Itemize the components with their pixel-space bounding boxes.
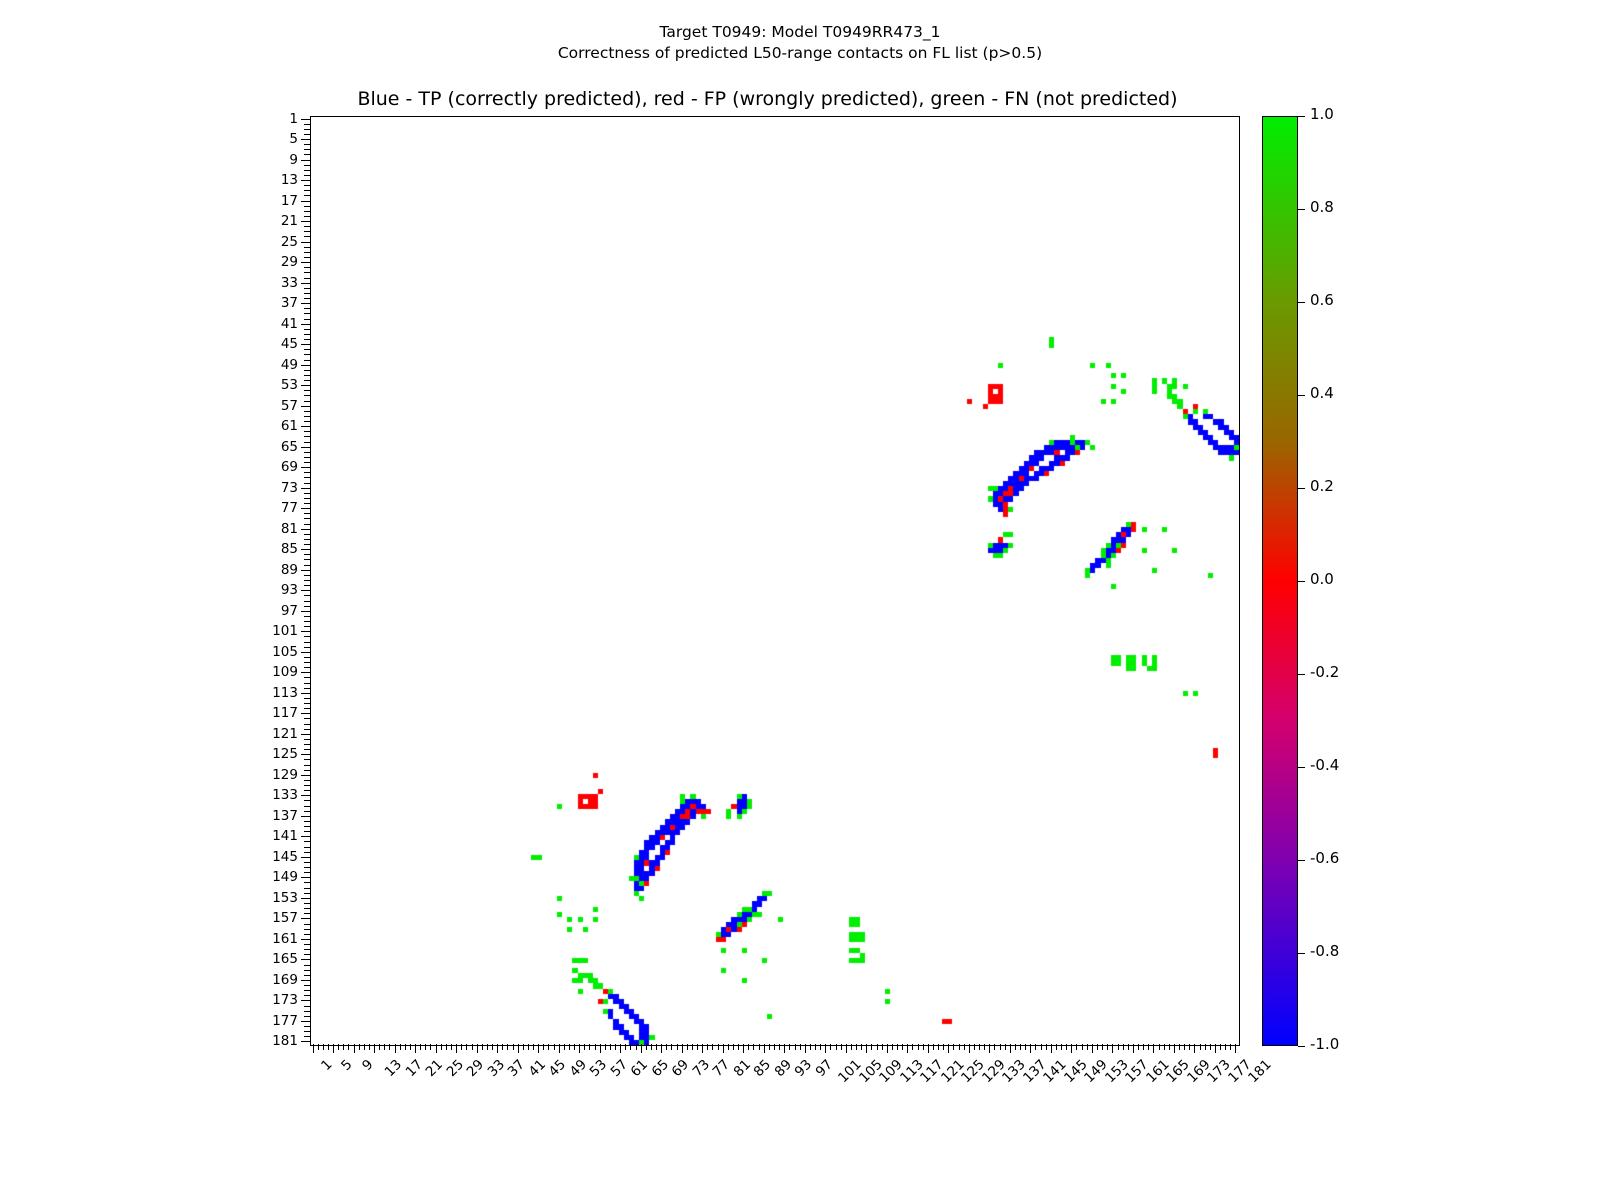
- y-tick-85: [301, 549, 310, 550]
- y-tick-125: [301, 754, 310, 755]
- x-tick-label-37: 37: [506, 1058, 527, 1079]
- y-tick-label-77: 77: [252, 502, 298, 514]
- colorbar-tick-1: [1298, 209, 1305, 210]
- y-tick-33: [301, 283, 310, 284]
- y-tick-5: [301, 139, 310, 140]
- y-tick-69: [301, 467, 310, 468]
- colorbar: [1262, 116, 1298, 1046]
- y-tick-label-65: 65: [252, 441, 298, 453]
- y-tick-label-1: 1: [252, 113, 298, 125]
- x-tick-label-125: 125: [960, 1058, 987, 1085]
- y-tick-label-73: 73: [252, 482, 298, 494]
- y-tick-169: [301, 980, 310, 981]
- x-tick-label-17: 17: [404, 1058, 425, 1079]
- x-tick-label-81: 81: [732, 1058, 753, 1079]
- y-tick-label-85: 85: [252, 543, 298, 555]
- y-tick-177: [301, 1021, 310, 1022]
- colorbar-tick-10: [1298, 1046, 1305, 1047]
- x-tick-label-13: 13: [383, 1058, 404, 1079]
- y-tick-label-157: 157: [252, 912, 298, 924]
- y-tick-105: [301, 652, 310, 653]
- y-tick-17: [301, 201, 310, 202]
- x-tick-label-49: 49: [568, 1058, 589, 1079]
- x-tick-label-41: 41: [527, 1058, 548, 1079]
- colorbar-label-2: 0.6: [1310, 294, 1334, 306]
- y-tick-label-137: 137: [252, 810, 298, 822]
- y-tick-label-29: 29: [252, 256, 298, 268]
- y-tick-label-69: 69: [252, 461, 298, 473]
- y-tick-label-89: 89: [252, 564, 298, 576]
- y-tick-61: [301, 426, 310, 427]
- colorbar-tick-7: [1298, 767, 1305, 768]
- y-tick-73: [301, 488, 310, 489]
- colorbar-label-3: 0.4: [1310, 387, 1334, 399]
- x-tick-label-97: 97: [814, 1058, 835, 1079]
- y-tick-label-45: 45: [252, 338, 298, 350]
- x-tick-label-77: 77: [711, 1058, 732, 1079]
- y-tick-label-61: 61: [252, 420, 298, 432]
- y-tick-145: [301, 857, 310, 858]
- y-tick-label-117: 117: [252, 707, 298, 719]
- x-tick-label-45: 45: [547, 1058, 568, 1079]
- legend-subtitle: Blue - TP (correctly predicted), red - F…: [0, 88, 1535, 110]
- y-tick-181: [301, 1041, 310, 1042]
- y-tick-1: [301, 119, 310, 120]
- y-tick-label-161: 161: [252, 933, 298, 945]
- y-tick-label-5: 5: [252, 133, 298, 145]
- y-tick-77: [301, 508, 310, 509]
- y-tick-label-37: 37: [252, 297, 298, 309]
- y-tick-21: [301, 221, 310, 222]
- y-tick-89: [301, 570, 310, 571]
- colorbar-tick-4: [1298, 488, 1305, 489]
- x-tick-label-9: 9: [360, 1058, 375, 1073]
- y-tick-25: [301, 242, 310, 243]
- y-tick-label-25: 25: [252, 236, 298, 248]
- x-tick-label-61: 61: [629, 1058, 650, 1079]
- y-tick-label-97: 97: [252, 605, 298, 617]
- colorbar-tick-2: [1298, 302, 1305, 303]
- y-tick-label-21: 21: [252, 215, 298, 227]
- x-tick-label-133: 133: [1001, 1058, 1028, 1085]
- colorbar-label-10: -1.0: [1310, 1038, 1339, 1050]
- y-tick-label-33: 33: [252, 277, 298, 289]
- y-tick-label-81: 81: [252, 523, 298, 535]
- y-tick-173: [301, 1000, 310, 1001]
- x-tick-label-73: 73: [691, 1058, 712, 1079]
- y-tick-label-53: 53: [252, 379, 298, 391]
- y-tick-13: [301, 180, 310, 181]
- colorbar-tick-0: [1298, 116, 1305, 117]
- x-tick-label-89: 89: [773, 1058, 794, 1079]
- y-tick-97: [301, 611, 310, 612]
- colorbar-label-1: 0.8: [1310, 201, 1334, 213]
- y-tick-157: [301, 918, 310, 919]
- x-tick-label-165: 165: [1165, 1058, 1192, 1085]
- colorbar-label-6: -0.2: [1310, 666, 1339, 678]
- y-tick-113: [301, 693, 310, 694]
- x-tick-label-153: 153: [1103, 1058, 1130, 1085]
- colorbar-label-8: -0.6: [1310, 852, 1339, 864]
- colorbar-label-9: -0.8: [1310, 945, 1339, 957]
- colorbar-tick-5: [1298, 581, 1305, 582]
- y-tick-label-133: 133: [252, 789, 298, 801]
- y-tick-121: [301, 734, 310, 735]
- y-tick-57: [301, 406, 310, 407]
- y-tick-label-113: 113: [252, 687, 298, 699]
- y-tick-93: [301, 590, 310, 591]
- y-tick-label-57: 57: [252, 400, 298, 412]
- x-tick-label-177: 177: [1226, 1058, 1253, 1085]
- colorbar-label-7: -0.4: [1310, 759, 1339, 771]
- y-tick-label-169: 169: [252, 974, 298, 986]
- y-tick-label-41: 41: [252, 318, 298, 330]
- y-tick-label-101: 101: [252, 625, 298, 637]
- figure-title: Target T0949: Model T0949RR473_1 Correct…: [0, 22, 1600, 64]
- y-tick-9: [301, 160, 310, 161]
- y-tick-label-125: 125: [252, 748, 298, 760]
- y-tick-45: [301, 344, 310, 345]
- y-tick-141: [301, 836, 310, 837]
- colorbar-label-4: 0.2: [1310, 480, 1334, 492]
- x-tick-label-1: 1: [319, 1058, 334, 1073]
- y-tick-label-165: 165: [252, 953, 298, 965]
- x-tick-label-69: 69: [670, 1058, 691, 1079]
- y-tick-label-17: 17: [252, 195, 298, 207]
- x-tick-label-57: 57: [609, 1058, 630, 1079]
- y-tick-117: [301, 713, 310, 714]
- y-tick-label-121: 121: [252, 728, 298, 740]
- colorbar-tick-9: [1298, 953, 1305, 954]
- y-tick-101: [301, 631, 310, 632]
- y-tick-165: [301, 959, 310, 960]
- x-tick-label-109: 109: [878, 1058, 905, 1085]
- colorbar-label-5: 0.0: [1310, 573, 1334, 585]
- x-tick-label-5: 5: [340, 1058, 355, 1073]
- y-tick-161: [301, 939, 310, 940]
- x-tick-label-137: 137: [1021, 1058, 1048, 1085]
- y-tick-label-177: 177: [252, 1015, 298, 1027]
- y-tick-label-129: 129: [252, 769, 298, 781]
- y-tick-label-93: 93: [252, 584, 298, 596]
- y-tick-label-149: 149: [252, 871, 298, 883]
- colorbar-tick-6: [1298, 674, 1305, 675]
- x-tick-label-93: 93: [793, 1058, 814, 1079]
- x-tick-label-145: 145: [1062, 1058, 1089, 1085]
- y-tick-label-13: 13: [252, 174, 298, 186]
- y-tick-label-145: 145: [252, 851, 298, 863]
- x-tick-label-173: 173: [1206, 1058, 1233, 1085]
- y-tick-153: [301, 898, 310, 899]
- colorbar-label-0: 1.0: [1310, 108, 1334, 120]
- y-tick-label-105: 105: [252, 646, 298, 658]
- y-tick-41: [301, 324, 310, 325]
- y-tick-129: [301, 775, 310, 776]
- y-tick-137: [301, 816, 310, 817]
- y-tick-label-181: 181: [252, 1035, 298, 1047]
- contact-map-plot[interactable]: [310, 116, 1240, 1046]
- x-tick-label-181: 181: [1247, 1058, 1274, 1085]
- x-tick-label-157: 157: [1124, 1058, 1151, 1085]
- title-line-1: Target T0949: Model T0949RR473_1: [0, 22, 1600, 43]
- x-tick-label-113: 113: [898, 1058, 925, 1085]
- y-tick-37: [301, 303, 310, 304]
- x-tick-label-129: 129: [980, 1058, 1007, 1085]
- x-tick-label-21: 21: [424, 1058, 445, 1079]
- y-tick-label-153: 153: [252, 892, 298, 904]
- x-tick-label-33: 33: [486, 1058, 507, 1079]
- y-tick-label-49: 49: [252, 359, 298, 371]
- y-tick-label-173: 173: [252, 994, 298, 1006]
- x-tick-label-85: 85: [752, 1058, 773, 1079]
- y-tick-81: [301, 529, 310, 530]
- x-tick-label-65: 65: [650, 1058, 671, 1079]
- y-tick-49: [301, 365, 310, 366]
- x-tick-label-25: 25: [445, 1058, 466, 1079]
- y-tick-133: [301, 795, 310, 796]
- colorbar-gradient: [1263, 117, 1297, 1045]
- contact-map-canvas[interactable]: [311, 117, 1239, 1045]
- x-tick-label-169: 169: [1185, 1058, 1212, 1085]
- y-tick-109: [301, 672, 310, 673]
- x-tick-label-101: 101: [837, 1058, 864, 1085]
- y-tick-149: [301, 877, 310, 878]
- y-tick-label-141: 141: [252, 830, 298, 842]
- x-tick-label-105: 105: [857, 1058, 884, 1085]
- x-tick-label-53: 53: [588, 1058, 609, 1079]
- colorbar-tick-8: [1298, 860, 1305, 861]
- x-tick-label-117: 117: [919, 1058, 946, 1085]
- y-tick-label-9: 9: [252, 154, 298, 166]
- x-tick-label-149: 149: [1083, 1058, 1110, 1085]
- y-tick-label-109: 109: [252, 666, 298, 678]
- y-tick-53: [301, 385, 310, 386]
- x-tick-label-141: 141: [1042, 1058, 1069, 1085]
- title-line-2: Correctness of predicted L50-range conta…: [0, 43, 1600, 64]
- x-tick-label-29: 29: [465, 1058, 486, 1079]
- y-tick-29: [301, 262, 310, 263]
- x-tick-label-161: 161: [1144, 1058, 1171, 1085]
- colorbar-tick-3: [1298, 395, 1305, 396]
- x-tick-label-121: 121: [939, 1058, 966, 1085]
- y-tick-65: [301, 447, 310, 448]
- figure-page: Target T0949: Model T0949RR473_1 Correct…: [0, 0, 1600, 1200]
